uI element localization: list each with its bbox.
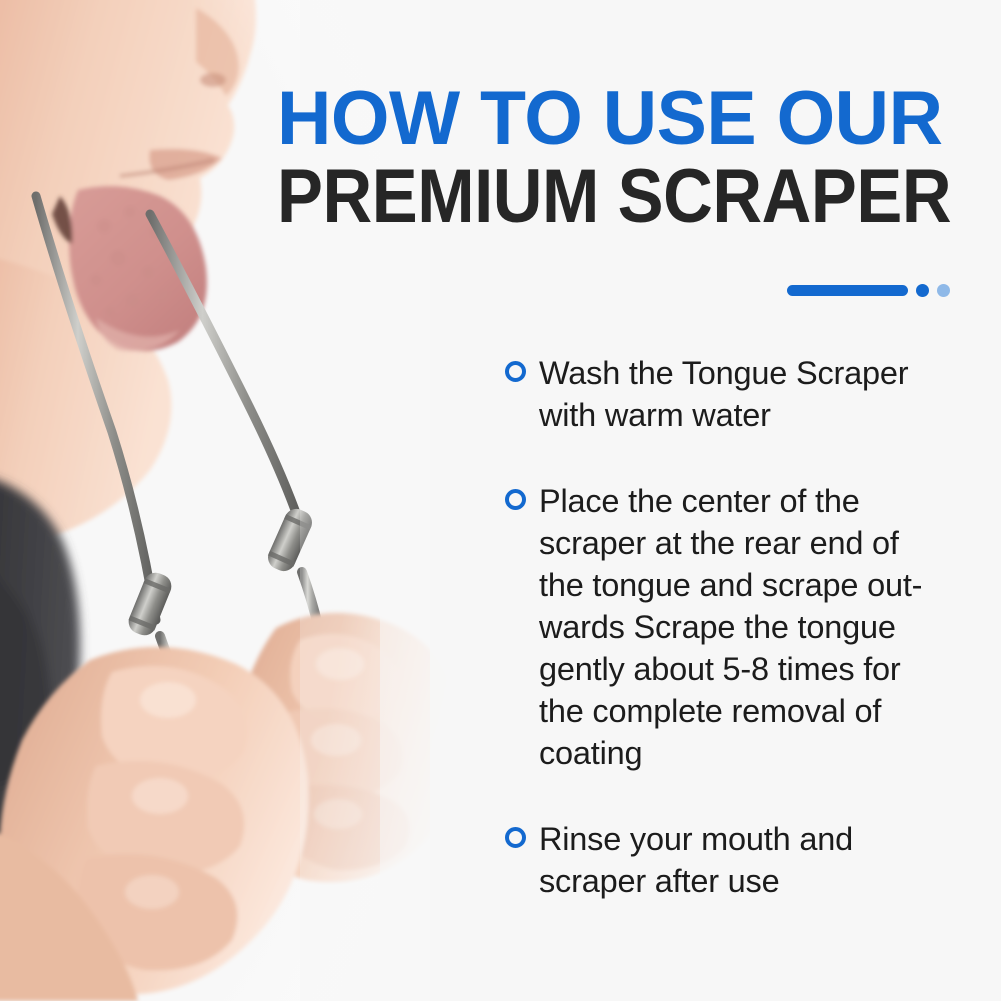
- decorative-divider: [787, 284, 950, 297]
- list-item-label: Place the center of the scraper at the r…: [539, 480, 922, 774]
- list-item: Rinse your mouth and scraper after use: [505, 818, 965, 902]
- list-item: Wash the Tongue Scraper with warm water: [505, 352, 965, 436]
- list-item: Place the center of the scraper at the r…: [505, 480, 965, 774]
- list-item-label: Wash the Tongue Scraper with warm water: [539, 352, 908, 436]
- ring-bullet-icon: [505, 489, 526, 510]
- ring-bullet-icon: [505, 827, 526, 848]
- divider-dot-faded-icon: [937, 284, 950, 297]
- poster-canvas: HOW TO USE OUR PREMIUM SCRAPER Wash the …: [0, 0, 1001, 1001]
- title-line-secondary: PREMIUM SCRAPER: [277, 158, 893, 236]
- title-line-primary: HOW TO USE OUR: [277, 80, 951, 158]
- list-item-label: Rinse your mouth and scraper after use: [539, 818, 853, 902]
- divider-bar-icon: [787, 285, 908, 296]
- divider-dot-icon: [916, 284, 929, 297]
- ring-bullet-icon: [505, 361, 526, 382]
- instruction-list: Wash the Tongue Scraper with warm water …: [505, 352, 965, 902]
- page-title: HOW TO USE OUR PREMIUM SCRAPER: [277, 80, 957, 236]
